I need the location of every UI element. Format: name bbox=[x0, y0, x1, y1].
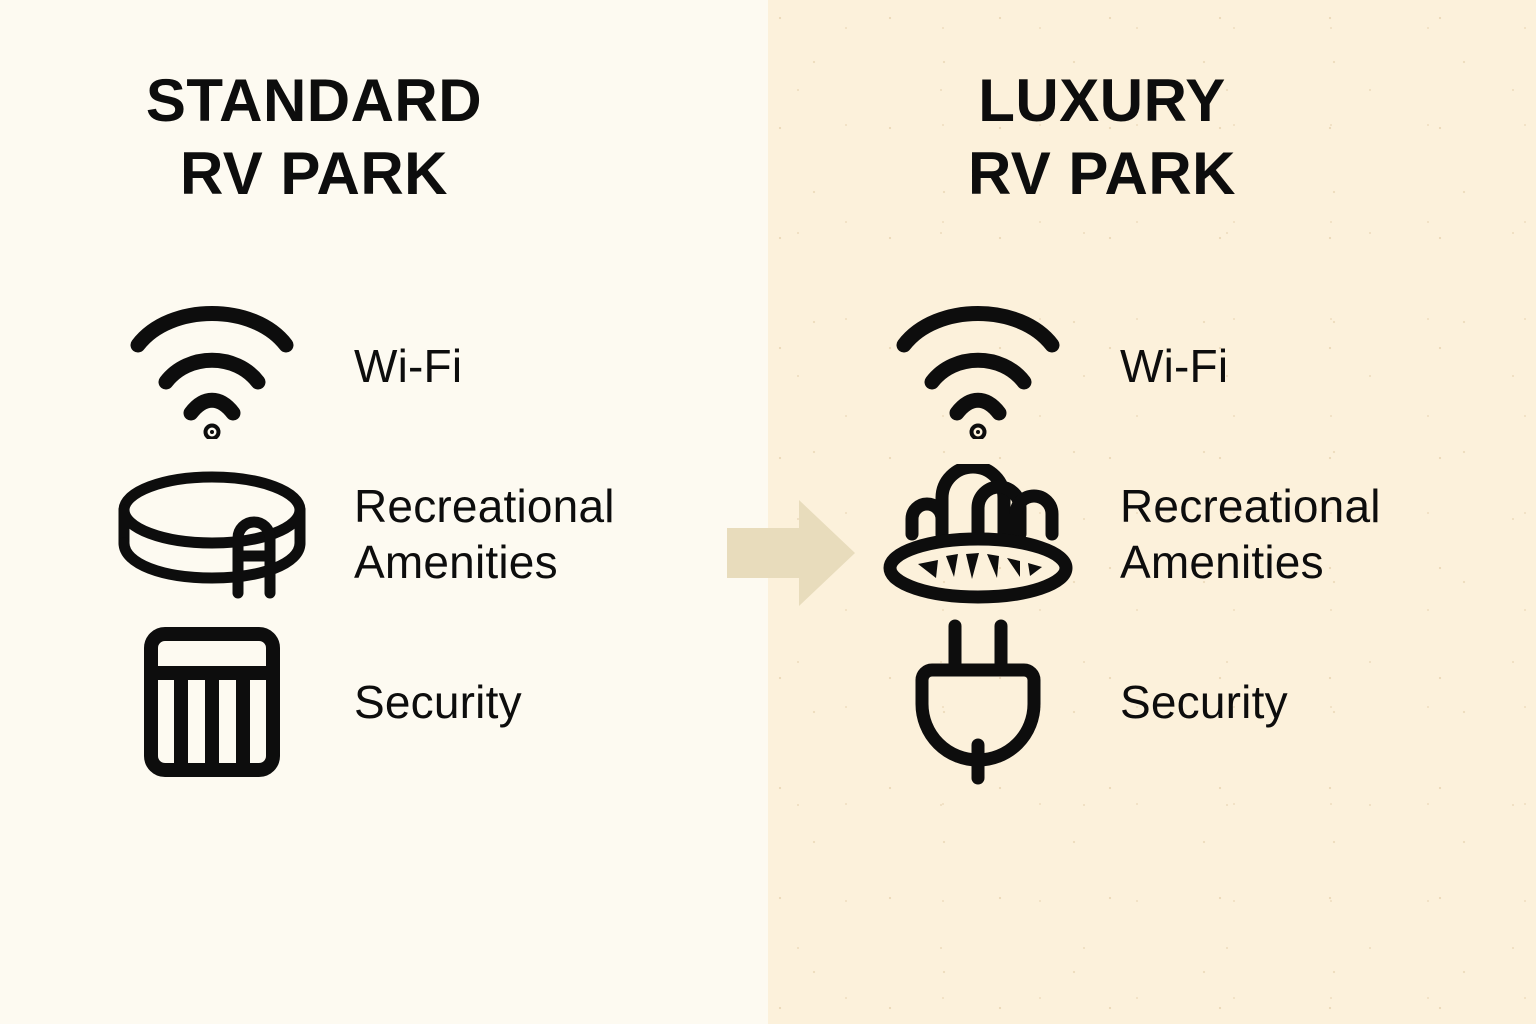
panel-luxury: LUXURY RV PARK Wi-Fi bbox=[768, 0, 1536, 1024]
feature-label-wifi-luxury: Wi-Fi bbox=[1120, 338, 1228, 394]
right-arrow-icon bbox=[727, 500, 855, 606]
wifi-icon bbox=[878, 293, 1078, 439]
feature-row-wifi-luxury: Wi-Fi bbox=[768, 282, 1536, 450]
fountain-basin-icon bbox=[878, 464, 1078, 604]
feature-label-amenities-standard: Recreational Amenities bbox=[354, 478, 615, 590]
feature-row-amenities-luxury: Recreational Amenities bbox=[768, 450, 1536, 618]
panel-luxury-rows: Wi-Fi bbox=[768, 282, 1536, 786]
fence-gate-icon bbox=[112, 626, 312, 778]
panel-standard-rows: Wi-Fi bbox=[0, 282, 768, 786]
feature-label-wifi-standard: Wi-Fi bbox=[354, 338, 462, 394]
infographic-canvas: STANDARD RV PARK Wi-Fi bbox=[0, 0, 1536, 1024]
wifi-icon bbox=[112, 293, 312, 439]
feature-label-security-standard: Security bbox=[354, 674, 522, 730]
feature-row-amenities-standard: Recreational Amenities bbox=[0, 450, 768, 618]
power-plug-icon bbox=[878, 618, 1078, 786]
panel-standard: STANDARD RV PARK Wi-Fi bbox=[0, 0, 768, 1024]
pool-icon bbox=[112, 468, 312, 600]
panel-luxury-title: LUXURY RV PARK bbox=[768, 64, 1536, 210]
feature-row-wifi-standard: Wi-Fi bbox=[0, 282, 768, 450]
feature-row-security-luxury: Security bbox=[768, 618, 1536, 786]
panel-standard-title: STANDARD RV PARK bbox=[0, 64, 768, 210]
feature-label-amenities-luxury: Recreational Amenities bbox=[1120, 478, 1381, 590]
feature-label-security-luxury: Security bbox=[1120, 674, 1288, 730]
feature-row-security-standard: Security bbox=[0, 618, 768, 786]
